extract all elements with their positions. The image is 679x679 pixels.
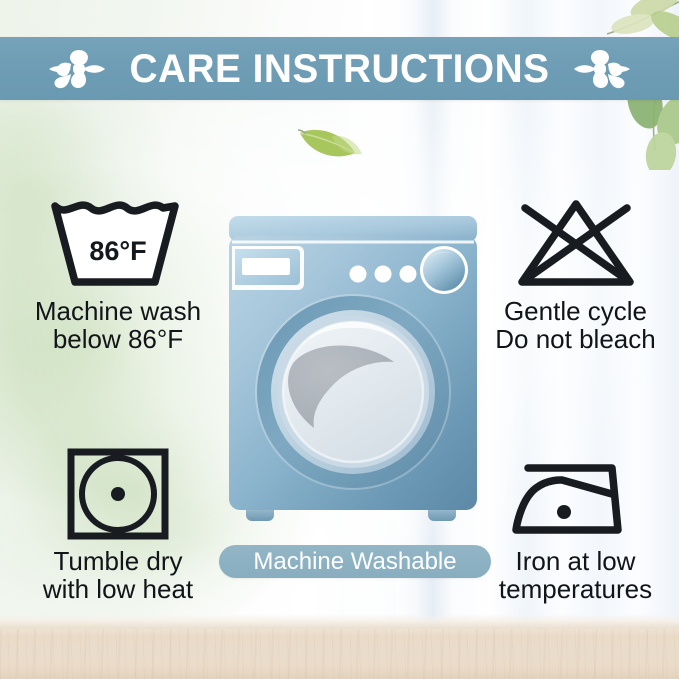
instruction-tumble-dry: Tumble dry with low heat [18,446,218,603]
wash-temperature-value: 86°F [89,236,146,266]
fleur-de-lis-icon [49,47,105,91]
instruction-caption: Gentle cycle Do not bleach [495,297,655,353]
wooden-table-surface [0,629,679,679]
instruction-caption: Machine wash below 86°F [35,297,201,353]
table-edge [0,614,679,629]
instruction-caption: Iron at low temperatures [499,547,652,603]
instruction-do-not-bleach: Gentle cycle Do not bleach [478,196,673,353]
instruction-caption: Tumble dry with low heat [43,547,193,603]
machine-washable-badge: Machine Washable [219,545,491,578]
iron-icon [506,446,646,541]
instruction-machine-wash: 86°F Machine wash below 86°F [18,196,218,353]
care-instructions-infographic: CARE INSTRUCTIONS [0,0,679,679]
floating-leaf-highlight-icon [330,132,364,158]
page-title: CARE INSTRUCTIONS [130,49,550,89]
washing-machine-illustration [222,212,484,534]
badge-label: Machine Washable [253,550,456,574]
tumble-dry-icon [63,446,173,541]
banner: CARE INSTRUCTIONS [0,37,679,100]
instruction-iron: Iron at low temperatures [478,446,673,603]
no-bleach-triangle-icon [501,196,651,291]
fleur-de-lis-icon [574,47,630,91]
wash-tub-icon: 86°F [43,196,193,291]
